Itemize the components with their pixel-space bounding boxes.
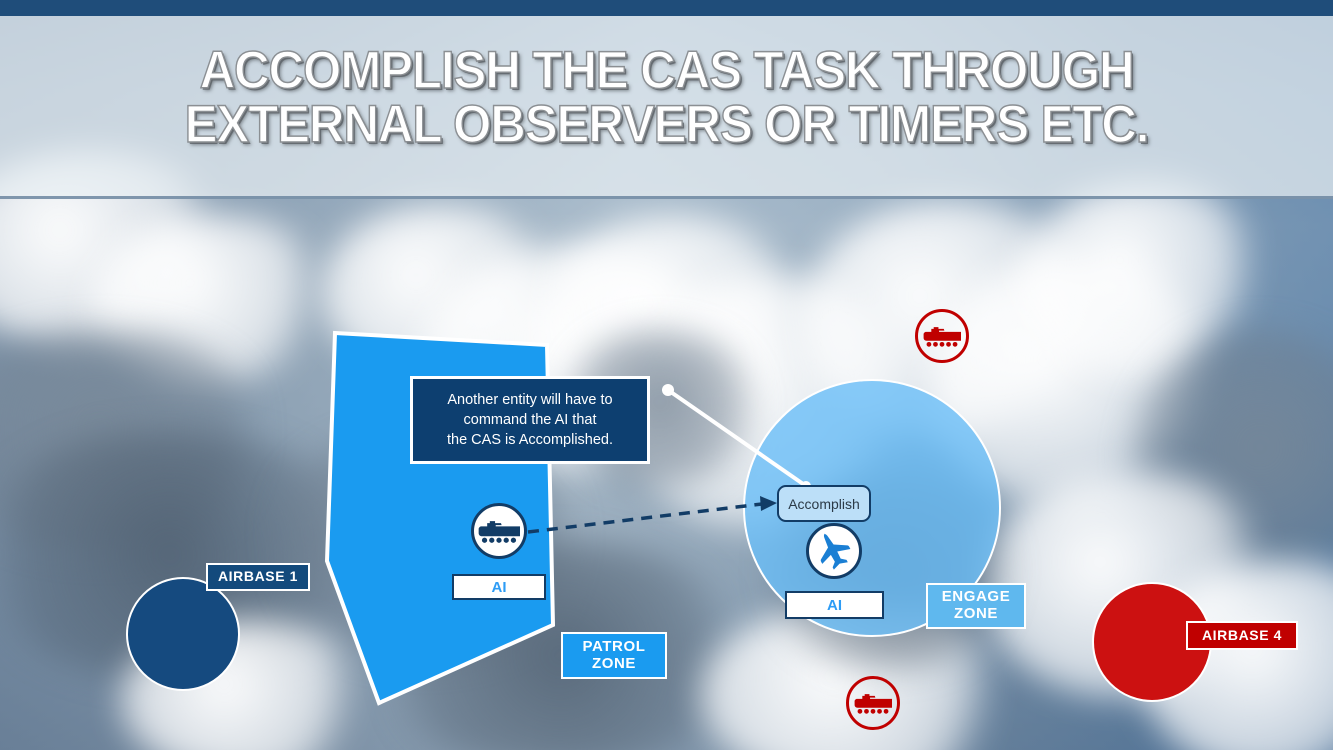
airbase-1-area[interactable] <box>126 577 240 691</box>
ai-ground-unit-marker[interactable] <box>471 503 527 559</box>
patrol-zone-label[interactable]: PATROL ZONE <box>561 632 667 679</box>
airbase-1-label[interactable]: AIRBASE 1 <box>206 563 310 591</box>
slide-canvas: ACCOMPLISH THE CAS TASK THROUGH EXTERNAL… <box>0 0 1333 750</box>
top-accent-bar <box>0 0 1333 16</box>
accomplish-task-node[interactable]: Accomplish <box>777 485 871 522</box>
fighter-jet-icon <box>813 530 855 572</box>
enemy-unit-marker[interactable] <box>915 309 969 363</box>
airbase-4-label[interactable]: AIRBASE 4 <box>1186 621 1298 650</box>
callout-box: Another entity will have to command the … <box>410 376 650 464</box>
page-title: ACCOMPLISH THE CAS TASK THROUGH EXTERNAL… <box>47 44 1287 152</box>
unit-ring <box>806 523 862 579</box>
ai-air-unit-marker[interactable] <box>806 523 862 579</box>
armored-vehicle-icon <box>478 516 520 546</box>
engage-zone-label[interactable]: ENGAGE ZONE <box>926 583 1026 629</box>
ai-ground-unit-label[interactable]: AI <box>452 574 546 600</box>
ai-air-unit-label[interactable]: AI <box>785 591 884 619</box>
unit-ring <box>471 503 527 559</box>
armored-vehicle-icon <box>854 690 892 716</box>
enemy-unit-marker[interactable] <box>846 676 900 730</box>
armored-vehicle-icon <box>923 323 961 349</box>
